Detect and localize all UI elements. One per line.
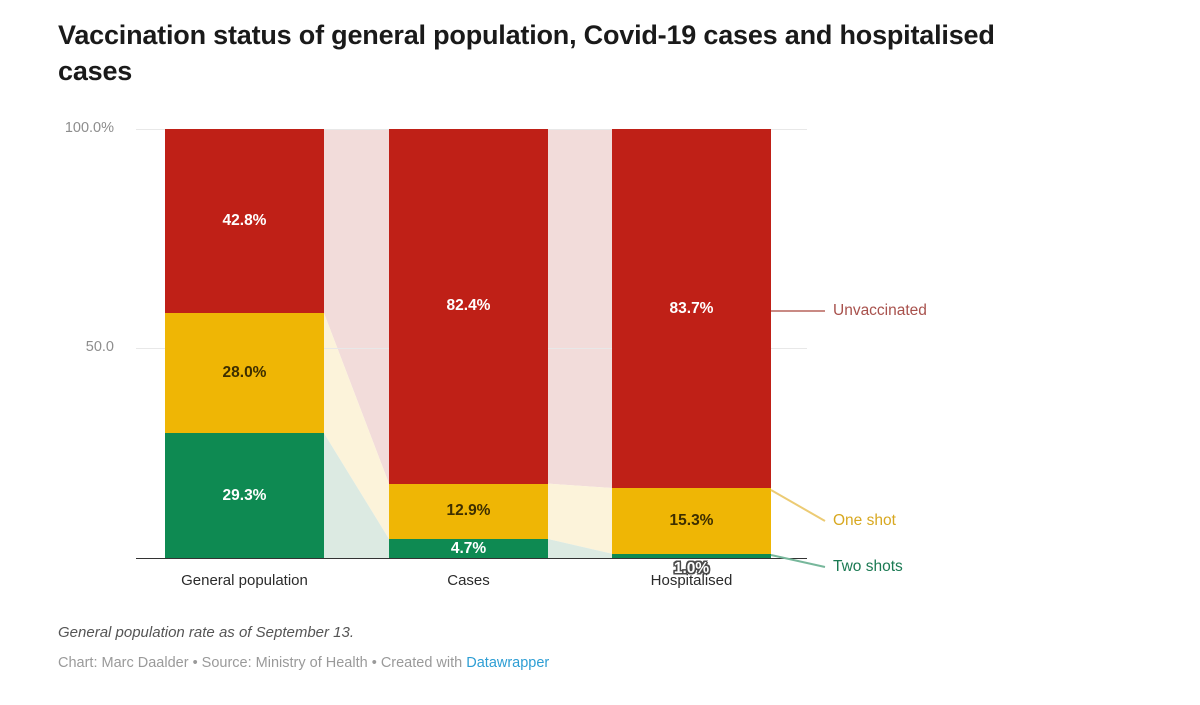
segment-value-label: 83.7% — [670, 300, 714, 318]
legend-item-two-shots[interactable]: Two shots — [833, 558, 903, 576]
segment-one-shot[interactable]: 15.3% — [612, 488, 771, 554]
segment-unvaccinated[interactable]: 83.7% — [612, 129, 771, 488]
segment-one-shot[interactable]: 12.9% — [389, 484, 548, 539]
segment-value-label: 12.9% — [447, 502, 491, 520]
segment-unvaccinated[interactable]: 82.4% — [389, 129, 548, 484]
segment-value-label: 4.7% — [451, 540, 486, 558]
xlabel-cases: Cases — [389, 572, 548, 589]
datawrapper-link[interactable]: Datawrapper — [466, 655, 549, 671]
segment-value-label: 82.4% — [447, 297, 491, 315]
ytick-label-50: 50.0 — [86, 339, 114, 355]
segment-value-label: 28.0% — [223, 364, 267, 382]
xlabel-hospitalised: Hospitalised — [612, 572, 771, 589]
chart-page: Vaccination status of general population… — [0, 0, 1200, 705]
xlabel-general-population: General population — [165, 572, 324, 589]
legend-label: Unvaccinated — [833, 302, 927, 319]
segment-value-label: 15.3% — [670, 512, 714, 530]
plot-area: 100.0% 50.0 42.8% 28.0% 29.3% 82.4% 12.9… — [0, 0, 1200, 705]
segment-two-shots[interactable]: 29.3% — [165, 433, 324, 558]
legend-item-unvaccinated[interactable]: Unvaccinated — [833, 302, 927, 320]
segment-one-shot[interactable]: 28.0% — [165, 313, 324, 433]
legend-item-one-shot[interactable]: One shot — [833, 512, 896, 530]
bar-hospitalised[interactable]: 83.7% 15.3% 1.0% — [612, 129, 771, 558]
bar-cases[interactable]: 82.4% 12.9% 4.7% — [389, 129, 548, 558]
credit-text: Chart: Marc Daalder • Source: Ministry o… — [58, 655, 466, 671]
segment-value-label: 29.3% — [223, 487, 267, 505]
segment-two-shots[interactable]: 1.0% — [612, 554, 771, 558]
chart-credit: Chart: Marc Daalder • Source: Ministry o… — [58, 655, 549, 671]
chart-note: General population rate as of September … — [58, 624, 354, 641]
segment-unvaccinated[interactable]: 42.8% — [165, 129, 324, 313]
segment-value-label: 42.8% — [223, 212, 267, 230]
ytick-label-100: 100.0% — [65, 120, 114, 136]
segment-two-shots[interactable]: 4.7% — [389, 539, 548, 558]
bar-general-population[interactable]: 42.8% 28.0% 29.3% — [165, 129, 324, 558]
legend-label: Two shots — [833, 558, 903, 575]
legend-label: One shot — [833, 512, 896, 529]
